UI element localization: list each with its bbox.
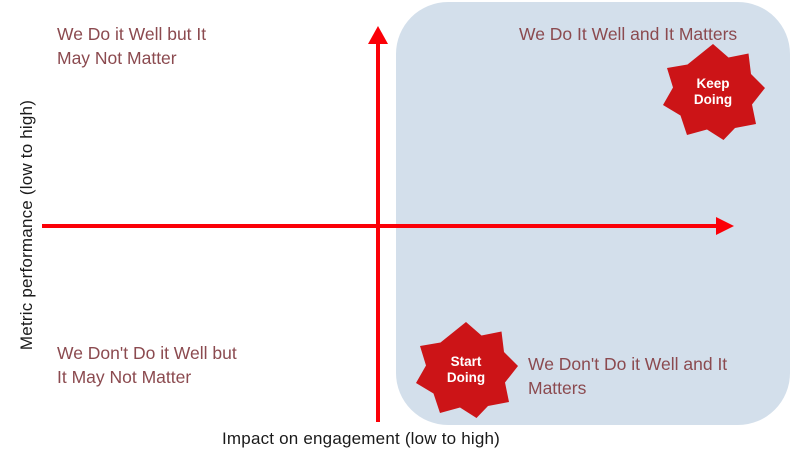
- quadrant-label-bottom-left: We Don't Do it Well but It May Not Matte…: [57, 341, 237, 389]
- quadrant-label-bottom-right: We Don't Do it Well and It Matters: [528, 352, 727, 400]
- start-doing-star-badge: Start Doing: [414, 322, 518, 418]
- y-axis-arrow-icon: [368, 26, 388, 44]
- x-axis-title: Impact on engagement (low to high): [222, 429, 500, 449]
- y-axis-line: [376, 40, 380, 422]
- quadrant-label-top-left: We Do it Well but It May Not Matter: [57, 22, 206, 70]
- seven-point-star-icon: [661, 44, 765, 140]
- y-axis-title: Metric performance (low to high): [17, 60, 37, 390]
- quadrant-label-top-right: We Do It Well and It Matters: [519, 22, 737, 46]
- seven-point-star-icon: [414, 322, 518, 418]
- x-axis-arrow-icon: [716, 217, 734, 235]
- keep-doing-star-badge: Keep Doing: [661, 44, 765, 140]
- x-axis-line: [42, 224, 722, 228]
- quadrant-chart-canvas: Metric performance (low to high) Impact …: [0, 0, 800, 458]
